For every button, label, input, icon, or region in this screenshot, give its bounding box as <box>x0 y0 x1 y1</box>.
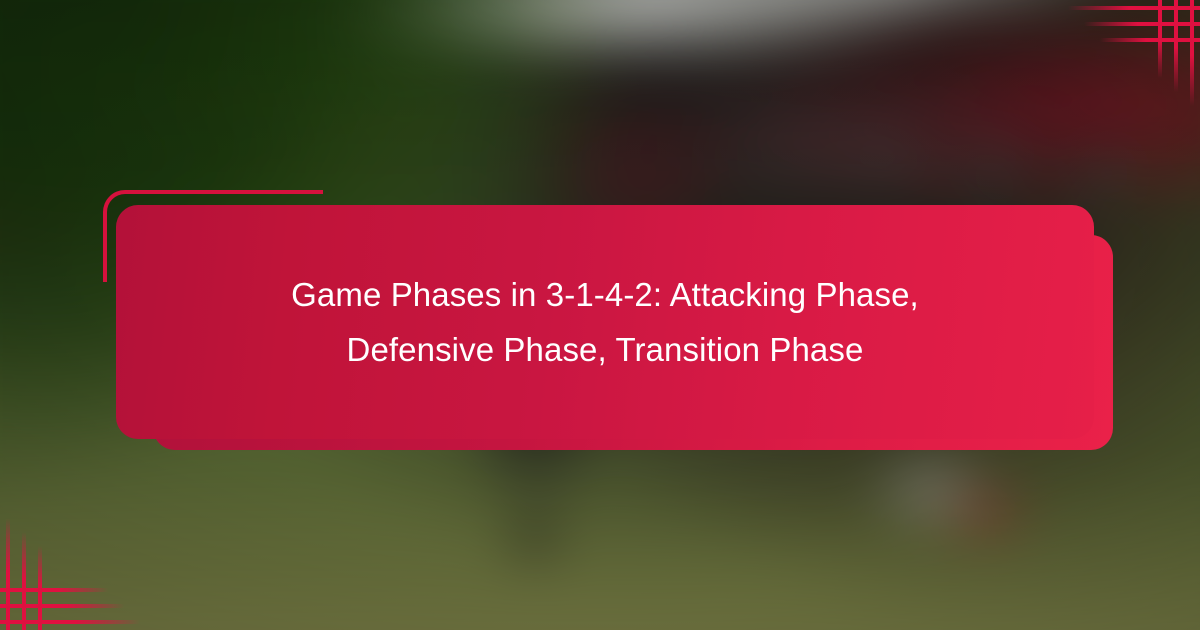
title-card-group: Game Phases in 3-1-4-2: Attacking Phase,… <box>103 190 1113 450</box>
title-card: Game Phases in 3-1-4-2: Attacking Phase,… <box>116 205 1094 439</box>
page-title-line-2: Defensive Phase, Transition Phase <box>291 322 919 377</box>
banner-stage: Game Phases in 3-1-4-2: Attacking Phase,… <box>0 0 1200 630</box>
page-title-line-1: Game Phases in 3-1-4-2: Attacking Phase, <box>291 267 919 322</box>
page-title: Game Phases in 3-1-4-2: Attacking Phase,… <box>221 267 989 378</box>
